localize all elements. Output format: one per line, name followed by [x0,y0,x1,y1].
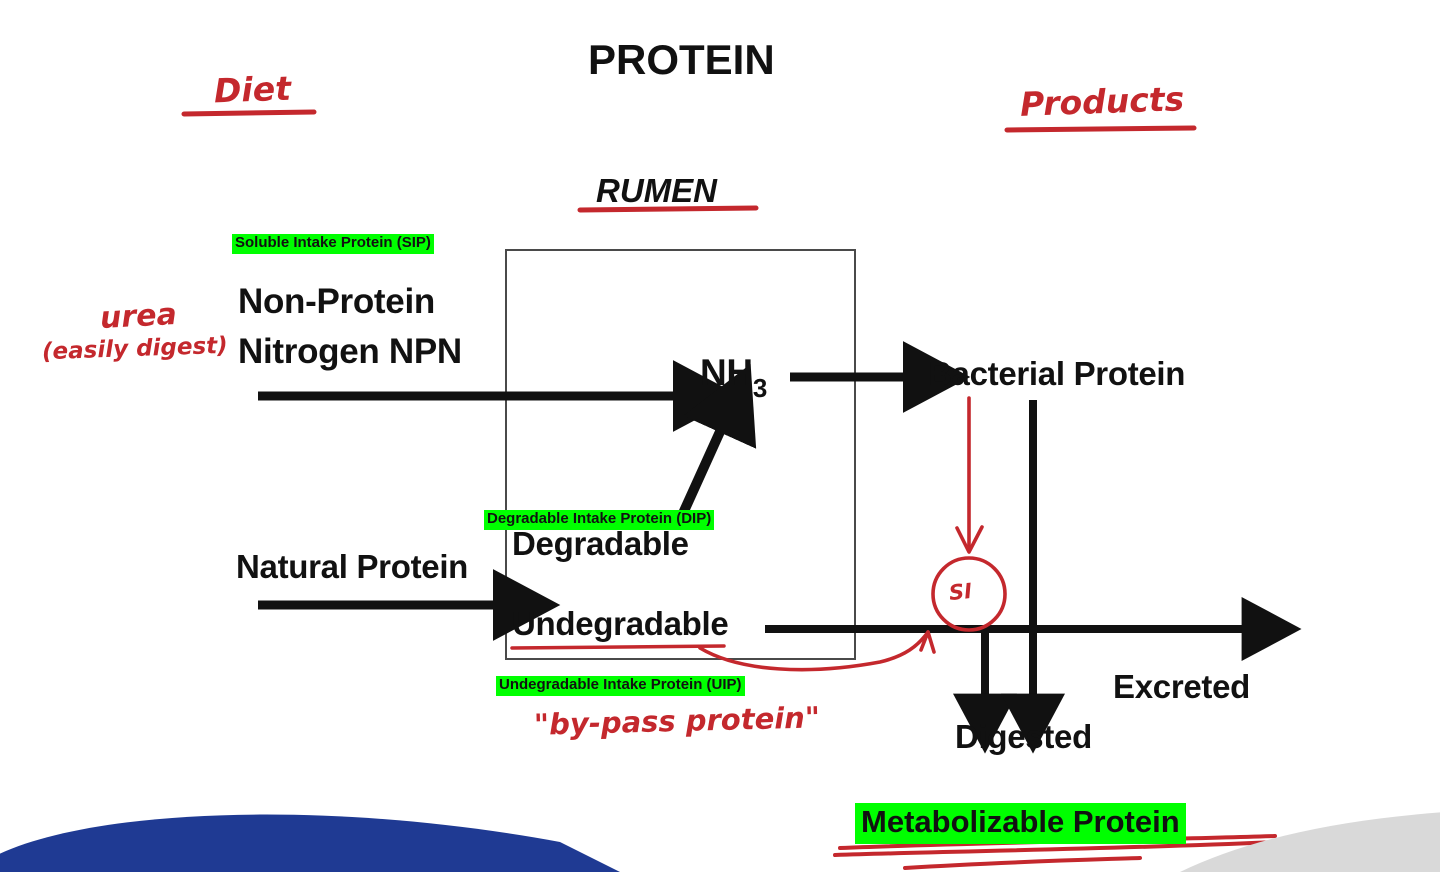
underline-diet [184,112,314,114]
arrow-dip-to-nh3 [680,425,723,520]
diet-heading: Diet [213,69,291,111]
annotation-bypass-protein: "by-pass protein" [534,700,821,741]
ammonia-subscript: 3 [753,373,767,403]
label-bacterial-protein: Bacterial Protein [928,355,1185,393]
callout-dip: Degradable Intake Protein (DIP) [484,510,714,530]
callout-metabolizable-protein: Metabolizable Protein [855,803,1186,844]
diagram-vector-layer [0,0,1440,872]
red-curve-bypass-pointer [700,632,928,670]
label-digested: Digested [955,718,1092,756]
callout-uip: Undegradable Intake Protein (UIP) [496,676,745,696]
label-excreted: Excreted [1113,668,1250,706]
label-nitrogen-npn: Nitrogen NPN [238,332,462,372]
red-arrow-bacterial-to-si-head [957,527,982,552]
label-undegradable: Undegradable [512,605,728,643]
blue-wave-decoration [0,815,620,872]
label-non-protein: Non-Protein [238,282,435,322]
underline-metabolizable-3 [905,858,1140,868]
underline-undegradable [512,646,724,648]
slide-canvas: PROTEIN RUMEN Diet Products urea (easily… [0,0,1440,872]
ammonia-formula: NH [700,352,753,393]
page-title: PROTEIN [588,36,775,84]
rumen-box [506,250,855,659]
products-heading: Products [1019,79,1184,124]
red-curve-arrowhead [921,632,934,652]
label-degradable: Degradable [512,525,689,563]
underline-products [1007,128,1194,130]
callout-sip: Soluble Intake Protein (SIP) [232,234,434,254]
label-ammonia: NH3 [700,352,767,404]
label-natural-protein: Natural Protein [236,548,468,586]
small-intestine-label: SI [948,579,973,605]
annotation-urea: urea [99,297,177,336]
annotation-easily-digest: (easily digest) [42,333,228,365]
underline-metabolizable-2 [835,842,1278,855]
rumen-heading: RUMEN [596,172,717,210]
gray-wave-decoration [1180,812,1440,872]
